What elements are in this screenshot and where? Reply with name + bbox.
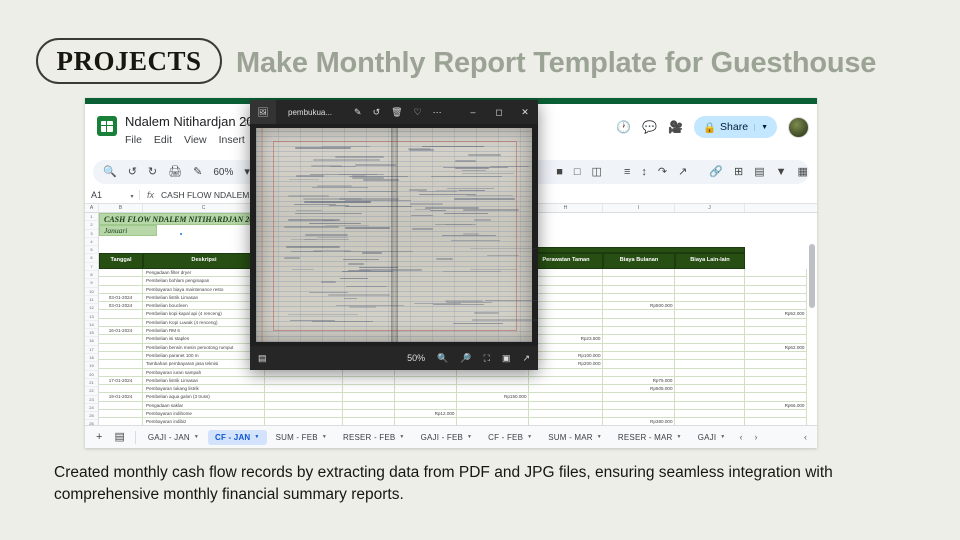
chevron-right-icon[interactable]: ›	[749, 432, 762, 442]
cell-biaya-lain-lain[interactable]	[675, 410, 745, 418]
cell-inventaris[interactable]	[395, 385, 457, 393]
cell-biaya-bulanan[interactable]	[603, 294, 675, 302]
cell-biaya-bulanan[interactable]: Rp500.000	[603, 302, 675, 310]
row-header-4[interactable]: 4	[85, 238, 98, 246]
sheet-tab-label: GAJI - FEB	[421, 433, 463, 442]
chevron-left-icon[interactable]: ‹	[734, 432, 747, 442]
sheet-tab-label: RESER - MAR	[618, 433, 673, 442]
menu-edit[interactable]: Edit	[154, 134, 172, 146]
cell-spacer-1[interactable]	[265, 385, 343, 393]
cell-perawatan-taman[interactable]: Rp100.000	[529, 352, 603, 360]
avatar[interactable]	[788, 117, 809, 138]
comment-icon[interactable]: 💬	[642, 121, 657, 133]
slide-caption: Created monthly cash flow records by ext…	[54, 462, 844, 507]
meet-camera-icon[interactable]: 🎥	[668, 121, 683, 133]
cell-biaya-lain-lain[interactable]	[675, 385, 745, 393]
row-header-24[interactable]: 24	[85, 404, 98, 412]
text-wrap-icon[interactable]: ↷	[658, 167, 667, 178]
cell-perawatan-taman[interactable]	[529, 327, 603, 335]
cell-biaya-lain-lain[interactable]	[675, 294, 745, 302]
cell-biaya-lain-lain[interactable]	[675, 360, 745, 368]
sheet-tab-label: SUM - FEB	[276, 433, 318, 442]
cell-trailing[interactable]: Rp62.000	[745, 344, 807, 352]
cell-deskripsi[interactable]: Pembelian kopi kapal api (4 renceng)	[143, 310, 265, 318]
sheet-tab-cf-jan[interactable]: CF - JAN▼	[208, 430, 267, 445]
tabbar-divider	[135, 431, 136, 444]
row-header-15[interactable]: 15	[85, 329, 98, 337]
cell-tanggal[interactable]	[99, 277, 143, 285]
cell-inventaris[interactable]	[395, 418, 457, 425]
insert-chart-icon[interactable]: ▤	[754, 167, 764, 178]
delete-icon[interactable]: 🗑	[391, 108, 402, 117]
caret-down-icon[interactable]: ▼	[527, 434, 532, 440]
row-header-18[interactable]: 18	[85, 354, 98, 362]
cell-spacer-1[interactable]	[265, 410, 343, 418]
cell-deskripsi[interactable]: Pembelian Kopi Luwak (4 renceng)	[143, 319, 265, 327]
cell-tanggal[interactable]	[99, 369, 143, 377]
cell-biaya-bulanan[interactable]	[603, 410, 675, 418]
cell-biaya-lain-lain[interactable]	[675, 335, 745, 343]
cell-trailing[interactable]	[745, 418, 807, 425]
caret-down-icon[interactable]: ▼	[322, 434, 327, 440]
cell-deskripsi[interactable]: Pembayaran indibiz	[143, 418, 265, 425]
cell-tanggal[interactable]	[99, 402, 143, 410]
cell-trailing[interactable]	[745, 410, 807, 418]
cell-biaya-bulanan[interactable]	[603, 393, 675, 401]
cell-biaya-lain-lain[interactable]	[675, 402, 745, 410]
cell-biaya-lain-lain[interactable]	[675, 377, 745, 385]
cell-biaya-lain-lain[interactable]	[675, 302, 745, 310]
text-rotation-icon[interactable]: ↗	[678, 167, 687, 178]
screenshot-frame: Ndalem Nitihardjan 2024 ☆ File Edit View…	[85, 98, 817, 448]
cell-biaya-lain-lain[interactable]	[675, 319, 745, 327]
sheet-tab-label: RESER - FEB	[343, 433, 395, 442]
paint-format-icon[interactable]: ✎	[193, 167, 202, 178]
cell-tanggal[interactable]	[99, 385, 143, 393]
cell-inventaris[interactable]: Rp12.000	[395, 410, 457, 418]
cell-biaya-bulanan[interactable]	[603, 344, 675, 352]
photo-actions: ✎ ↺ 🗑 ♡ ⋯	[354, 108, 442, 117]
share-label: Share	[720, 121, 748, 133]
cell-trailing[interactable]: Rp66.000	[745, 402, 807, 410]
cell-biaya-lain-lain[interactable]	[675, 286, 745, 294]
photo-zoom-level: 50%	[407, 354, 425, 363]
cell-tanggal[interactable]: 17-01-2024	[99, 377, 143, 385]
borders-icon[interactable]: □	[574, 167, 581, 178]
insert-comment-icon[interactable]: ⊞	[734, 167, 743, 178]
sheet-tab-label: GAJI	[698, 433, 717, 442]
all-sheets-icon[interactable]: ▤	[109, 432, 129, 443]
cell-perawatan-taman[interactable]	[529, 269, 603, 277]
photo-viewer-window[interactable]: 🖼 pembukua... ✎ ↺ 🗑 ♡ ⋯ – ◻ ✕ ▤ 50	[250, 100, 538, 370]
cell-deskripsi[interactable]: Pembelian listrik Limasan	[143, 377, 265, 385]
fullscreen-icon[interactable]: ↗	[522, 354, 530, 363]
cell-trailing[interactable]	[745, 393, 807, 401]
cell-spacer-1[interactable]	[265, 402, 343, 410]
sheet-tab-label: GAJI - JAN	[148, 433, 190, 442]
redo-icon[interactable]: ↻	[148, 167, 157, 178]
row-header-3[interactable]: 3	[85, 230, 98, 238]
merge-cells-icon[interactable]: ◫	[592, 167, 602, 178]
cell-deskripsi[interactable]: Pembayaran tukang listrik	[143, 385, 265, 393]
sheet-tab-gaji-jan[interactable]: GAJI - JAN▼	[141, 430, 206, 445]
row-header-16[interactable]: 16	[85, 337, 98, 345]
cell-trailing[interactable]	[745, 302, 807, 310]
menu-file[interactable]: File	[125, 134, 142, 146]
cell-spacer-2[interactable]	[343, 393, 395, 401]
fx-icon: fx	[139, 190, 161, 200]
undo-icon[interactable]: ↺	[128, 167, 137, 178]
cell-deskripsi[interactable]: Pembayaran iuran sampah	[143, 369, 265, 377]
row-header-1[interactable]: 1	[85, 213, 98, 221]
google-sheets-icon	[97, 116, 117, 136]
cell-biaya-lain-lain[interactable]	[675, 327, 745, 335]
caret-down-icon[interactable]: ▼	[194, 434, 199, 440]
cell-spacer-2[interactable]	[343, 385, 395, 393]
handwritten-ledger-photo	[256, 128, 532, 342]
caret-down-icon[interactable]: ▼	[597, 434, 602, 440]
cell-maintenance[interactable]	[457, 385, 529, 393]
row-header-17[interactable]: 17	[85, 346, 98, 354]
search-icon[interactable]: 🔍	[103, 167, 117, 178]
cell-trailing[interactable]	[745, 277, 807, 285]
table-row[interactable]: Pembayaran tukang listrikRp505.000	[99, 385, 807, 393]
cell-deskripsi[interactable]: Pembelian bohlam penginapan	[143, 277, 265, 285]
col-header-biaya-lain-lain: Biaya Lain-lain	[675, 253, 745, 269]
filter-icon[interactable]: ▼	[776, 167, 787, 178]
cell-perawatan-taman[interactable]	[529, 369, 603, 377]
actual-size-icon[interactable]: ▣	[502, 354, 511, 363]
photos-app-icon: 🖼	[250, 100, 276, 124]
projects-badge: PROJECTS	[36, 38, 222, 84]
cell-perawatan-taman[interactable]	[529, 319, 603, 327]
cell-deskripsi[interactable]: Pembayaran biaya maintenance resto	[143, 286, 265, 294]
filmstrip-icon[interactable]: ▤	[258, 353, 267, 364]
sheet-tab-reser-mar[interactable]: RESER - MAR▼	[611, 430, 689, 445]
cell-deskripsi[interactable]: Pembayaran indihome	[143, 410, 265, 418]
column-header-i[interactable]: I	[603, 204, 675, 212]
cell-spacer-1[interactable]	[265, 393, 343, 401]
column-header-c[interactable]: C	[143, 204, 265, 212]
cell-deskripsi[interactable]: Pembelian isi staples	[143, 335, 265, 343]
cell-perawatan-taman[interactable]	[529, 402, 603, 410]
cell-deskripsi[interactable]: Pembelian bensin mesin pemotong rumput	[143, 344, 265, 352]
cell-tanggal[interactable]	[99, 360, 143, 368]
cell-deskripsi[interactable]: Pembelian boucleen	[143, 302, 265, 310]
projects-badge-label: PROJECTS	[56, 46, 201, 77]
cell-biaya-bulanan[interactable]	[603, 352, 675, 360]
cell-trailing[interactable]: Rp52.000	[745, 310, 807, 318]
cell-tanggal[interactable]	[99, 319, 143, 327]
sheet-month-cell[interactable]: Januari	[99, 225, 157, 236]
row-header-14[interactable]: 14	[85, 321, 98, 329]
table-row[interactable]: 19-01-2024Pembelian aqua galon (3 truss)…	[99, 393, 807, 401]
cell-inventaris[interactable]	[395, 393, 457, 401]
cell-deskripsi[interactable]: Pembelian listrik Limasan	[143, 294, 265, 302]
cell-biaya-lain-lain[interactable]	[675, 269, 745, 277]
vertical-align-icon[interactable]: ↕	[641, 167, 647, 178]
caret-down-icon[interactable]: ▼	[677, 434, 682, 440]
cell-trailing[interactable]	[745, 327, 807, 335]
cell-perawatan-taman[interactable]	[529, 294, 603, 302]
cell-spacer-2[interactable]	[343, 410, 395, 418]
cell-trailing[interactable]	[745, 385, 807, 393]
caret-down-icon[interactable]: ▼	[720, 434, 725, 440]
row-header-20[interactable]: 20	[85, 371, 98, 379]
cell-inventaris[interactable]	[395, 402, 457, 410]
zoom-level[interactable]: 60%	[213, 167, 233, 178]
photo-viewer-titlebar[interactable]: 🖼 pembukua... ✎ ↺ 🗑 ♡ ⋯ – ◻ ✕	[250, 100, 538, 124]
cell-tanggal[interactable]	[99, 352, 143, 360]
cell-perawatan-taman[interactable]	[529, 344, 603, 352]
cell-trailing[interactable]	[745, 335, 807, 343]
cell-perawatan-taman[interactable]	[529, 286, 603, 294]
cell-maintenance[interactable]	[457, 418, 529, 425]
column-header-h[interactable]: H	[529, 204, 603, 212]
sheet-tab-gaji[interactable]: GAJI▼	[691, 430, 733, 445]
name-box[interactable]: A1 ▾	[85, 190, 139, 200]
table-row[interactable]: Pengadaan saklarRp66.000	[99, 402, 807, 410]
photo-filename: pembukua...	[288, 108, 332, 117]
zoom-in-icon[interactable]: 🔎	[460, 354, 471, 363]
sheet-tab-bar: + ▤ GAJI - JAN▼CF - JAN▼SUM - FEB▼RESER …	[85, 425, 817, 448]
col-header-biaya-bulanan: Biaya Bulanan	[603, 253, 675, 269]
cell-biaya-bulanan[interactable]	[603, 335, 675, 343]
cell-biaya-bulanan[interactable]	[603, 360, 675, 368]
edit-image-icon[interactable]: ✎	[354, 108, 362, 117]
column-header-b[interactable]: B	[99, 204, 143, 212]
caret-down-icon[interactable]: ▼	[399, 434, 404, 440]
table-row[interactable]: 17-01-2024Pembelian listrik LimasanRp75.…	[99, 377, 807, 385]
cell-spacer-2[interactable]	[343, 402, 395, 410]
row-header-5[interactable]: 5	[85, 246, 98, 254]
caret-down-icon[interactable]: ▼	[467, 434, 472, 440]
cell-deskripsi[interactable]: Pengadaan saklar	[143, 402, 265, 410]
cell-biaya-bulanan[interactable]	[603, 310, 675, 318]
cell-maintenance[interactable]	[457, 410, 529, 418]
cell-perawatan-taman[interactable]	[529, 377, 603, 385]
row-header-10[interactable]: 10	[85, 288, 98, 296]
col-header-tanggal: Tanggal	[99, 253, 143, 269]
caret-down-icon[interactable]: ▼	[254, 434, 259, 440]
rotate-icon[interactable]: ↺	[373, 108, 381, 117]
window-controls: – ◻ ✕	[460, 100, 538, 124]
row-headers: 1234567891011121314151617181920212223242…	[85, 213, 99, 425]
cell-biaya-lain-lain[interactable]	[675, 393, 745, 401]
page-title: Make Monthly Report Template for Guestho…	[236, 47, 876, 80]
cell-maintenance[interactable]	[457, 377, 529, 385]
cell-deskripsi[interactable]: Pembelian paranet 100 m	[143, 352, 265, 360]
slide-header: PROJECTS Make Monthly Report Template fo…	[0, 0, 960, 100]
tabbar-end-chevron-icon[interactable]: ‹	[804, 432, 811, 442]
table-row[interactable]: Pembayaran indihomeRp12.000	[99, 410, 807, 418]
cell-tanggal[interactable]	[99, 310, 143, 318]
caret-down-icon[interactable]: ▾	[131, 194, 134, 200]
cell-trailing[interactable]	[745, 286, 807, 294]
cell-deskripsi[interactable]: Pengadaan filter dryer	[143, 269, 265, 277]
print-icon[interactable]: 🖨	[168, 167, 182, 178]
col-header-perawatan-taman: Perawatan Taman	[529, 253, 603, 269]
cell-biaya-bulanan[interactable]	[603, 327, 675, 335]
cell-deskripsi[interactable]: Tambahan pembayaran jasa teknisi	[143, 360, 265, 368]
cell-biaya-lain-lain[interactable]	[675, 352, 745, 360]
cell-tanggal[interactable]	[99, 410, 143, 418]
cell-perawatan-taman[interactable]: Rp23.500	[529, 335, 603, 343]
column-header-a[interactable]: A	[85, 204, 99, 212]
row-header-21[interactable]: 21	[85, 379, 98, 387]
name-box-value: A1	[91, 190, 102, 200]
cell-trailing[interactable]	[745, 319, 807, 327]
lock-icon: 🔒	[703, 121, 716, 134]
row-header-8[interactable]: 8	[85, 271, 98, 279]
column-header-j[interactable]: J	[675, 204, 745, 212]
cell-tanggal[interactable]	[99, 418, 143, 425]
functions-icon[interactable]: ▦	[798, 167, 808, 178]
row-header-13[interactable]: 13	[85, 313, 98, 321]
heart-icon[interactable]: ♡	[414, 108, 422, 117]
align-icon[interactable]: ≡	[624, 167, 630, 178]
cell-tanggal[interactable]	[99, 344, 143, 352]
table-row[interactable]: Pembayaran indibizRp380.000	[99, 418, 807, 425]
cell-perawatan-taman[interactable]	[529, 393, 603, 401]
sheet-tab-label: CF - JAN	[215, 433, 250, 442]
caret-down-icon[interactable]: ▼	[754, 124, 768, 131]
cell-maintenance[interactable]: Rp150.000	[457, 393, 529, 401]
row-header-25[interactable]: 25	[85, 412, 98, 420]
cell-spacer-2[interactable]	[343, 418, 395, 425]
cell-biaya-bulanan[interactable]	[603, 286, 675, 294]
cell-trailing[interactable]	[745, 377, 807, 385]
cell-tanggal[interactable]: 16-01-2024	[99, 327, 143, 335]
cell-biaya-bulanan[interactable]: Rp75.000	[603, 377, 675, 385]
zoom-out-icon[interactable]: 🔍	[437, 354, 448, 363]
row-header-2[interactable]: 2	[85, 221, 98, 229]
cell-biaya-bulanan[interactable]	[603, 269, 675, 277]
cell-tanggal[interactable]	[99, 335, 143, 343]
cell-trailing[interactable]	[745, 294, 807, 302]
add-sheet-icon[interactable]: +	[91, 432, 107, 443]
cell-trailing[interactable]	[745, 269, 807, 277]
sheet-tab-sum-feb[interactable]: SUM - FEB▼	[269, 430, 334, 445]
sheet-tab-reser-feb[interactable]: RESER - FEB▼	[336, 430, 412, 445]
cell-biaya-bulanan[interactable]	[603, 369, 675, 377]
row-header-19[interactable]: 19	[85, 362, 98, 370]
share-button[interactable]: 🔒 Share ▼	[694, 116, 777, 138]
photo-viewer-bottombar: ▤ 50% 🔍 🔎 ⛶ ▣ ↗	[250, 346, 538, 370]
cell-trailing[interactable]	[745, 369, 807, 377]
row-header-12[interactable]: 12	[85, 304, 98, 312]
cell-trailing[interactable]	[745, 352, 807, 360]
cell-biaya-lain-lain[interactable]	[675, 310, 745, 318]
cell-perawatan-taman[interactable]	[529, 418, 603, 425]
fit-to-window-icon[interactable]: ⛶	[484, 354, 490, 363]
insert-link-icon[interactable]: 🔗	[709, 167, 723, 178]
cell-deskripsi[interactable]: Pembelian RM 6	[143, 327, 265, 335]
menu-view[interactable]: View	[184, 134, 207, 146]
cell-biaya-bulanan[interactable]	[603, 319, 675, 327]
cell-maintenance[interactable]	[457, 402, 529, 410]
cell-perawatan-taman[interactable]	[529, 277, 603, 285]
cell-biaya-lain-lain[interactable]	[675, 277, 745, 285]
menu-insert[interactable]: Insert	[219, 134, 245, 146]
cell-tanggal[interactable]	[99, 269, 143, 277]
sheet-tab-sum-mar[interactable]: SUM - MAR▼	[541, 430, 609, 445]
more-options-icon[interactable]: ⋯	[433, 108, 442, 117]
sheet-tab-label: CF - FEB	[488, 433, 523, 442]
cell-spacer-2[interactable]	[343, 377, 395, 385]
cell-inventaris[interactable]	[395, 377, 457, 385]
cell-trailing[interactable]	[745, 360, 807, 368]
cell-biaya-bulanan[interactable]	[603, 402, 675, 410]
cell-biaya-lain-lain[interactable]	[675, 418, 745, 425]
row-header-6[interactable]: 6	[85, 254, 98, 262]
minimize-icon[interactable]: –	[460, 100, 486, 124]
col-header-deskripsi: Deskripsi	[143, 253, 265, 269]
sheet-tabs: GAJI - JAN▼CF - JAN▼SUM - FEB▼RESER - FE…	[141, 430, 733, 445]
cell-spacer-1[interactable]	[265, 418, 343, 425]
handwriting-marks	[256, 128, 532, 342]
row-header-9[interactable]: 9	[85, 279, 98, 287]
cell-biaya-bulanan[interactable]: Rp505.000	[603, 385, 675, 393]
row-header-7[interactable]: 7	[85, 263, 98, 271]
cell-biaya-bulanan[interactable]: Rp380.000	[603, 418, 675, 425]
row-header-22[interactable]: 22	[85, 387, 98, 395]
cell-perawatan-taman[interactable]: Rp200.000	[529, 360, 603, 368]
cell-perawatan-taman[interactable]	[529, 302, 603, 310]
sheet-tab-label: SUM - MAR	[548, 433, 592, 442]
cell-tanggal[interactable]: 19-01-2024	[99, 393, 143, 401]
maximize-icon[interactable]: ◻	[486, 100, 512, 124]
cell-biaya-bulanan[interactable]	[603, 277, 675, 285]
cell-perawatan-taman[interactable]	[529, 310, 603, 318]
sheet-tab-gaji-feb[interactable]: GAJI - FEB▼	[414, 430, 480, 445]
cell-biaya-lain-lain[interactable]	[675, 369, 745, 377]
close-icon[interactable]: ✕	[512, 100, 538, 124]
cell-biaya-lain-lain[interactable]	[675, 344, 745, 352]
cell-perawatan-taman[interactable]	[529, 410, 603, 418]
photo-zoom-controls: 50% 🔍 🔎 ⛶ ▣ ↗	[407, 354, 530, 363]
version-history-icon[interactable]: 🕐	[616, 121, 631, 133]
cell-deskripsi[interactable]: Pembelian aqua galon (3 truss)	[143, 393, 265, 401]
vertical-scrollbar[interactable]	[809, 244, 815, 308]
cell-tanggal[interactable]: 03-01-2024	[99, 302, 143, 310]
selection-handle[interactable]	[179, 232, 183, 236]
fill-color-icon[interactable]: ■	[556, 167, 563, 178]
cell-perawatan-taman[interactable]	[529, 385, 603, 393]
cell-spacer-1[interactable]	[265, 377, 343, 385]
row-header-11[interactable]: 11	[85, 296, 98, 304]
cell-tanggal[interactable]	[99, 286, 143, 294]
row-header-23[interactable]: 23	[85, 396, 98, 404]
cell-tanggal[interactable]: 03-01-2024	[99, 294, 143, 302]
photo-canvas[interactable]	[250, 124, 538, 346]
header-actions: 🕐 💬 🎥 🔒 Share ▼	[616, 116, 809, 138]
sheet-tab-cf-feb[interactable]: CF - FEB▼	[481, 430, 539, 445]
